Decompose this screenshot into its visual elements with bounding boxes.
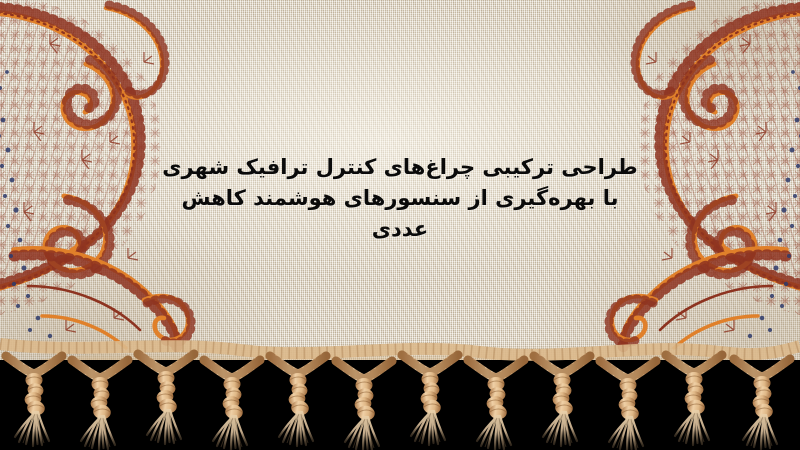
slide-title: طراحی ترکیبی چراغ‌های کنترل ترافیک شهری … — [0, 152, 800, 245]
title-line-1: طراحی ترکیبی چراغ‌های کنترل ترافیک شهری — [0, 152, 800, 183]
title-line-3: عددی — [0, 214, 800, 245]
slide-canvas: طراحی ترکیبی چراغ‌های کنترل ترافیک شهری … — [0, 0, 800, 450]
black-backdrop — [0, 360, 800, 450]
title-line-2: با بهره‌گیری از سنسورهای هوشمند کاهش — [0, 183, 800, 214]
